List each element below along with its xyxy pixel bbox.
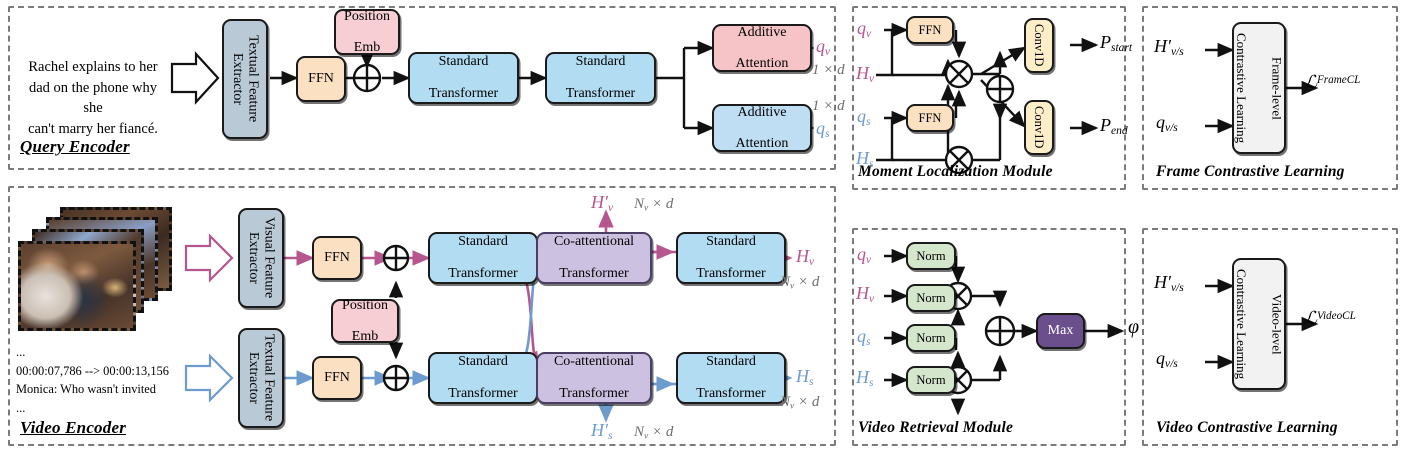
panel-title-moment-localization: Moment Localization Module xyxy=(858,163,1053,181)
label-dim-top: 1 × d xyxy=(812,62,845,79)
fcl-output: ℒFrameCL xyxy=(1304,72,1360,93)
video-ffn-subtitle[interactable]: FFN xyxy=(312,356,362,400)
ml-input-hs: Hs xyxy=(856,148,873,170)
ml-conv1d-end[interactable]: Conv1D xyxy=(1024,100,1054,155)
label-hv: Hv xyxy=(796,246,814,268)
subtitle-line4: ... xyxy=(16,399,169,418)
query-textual-feature-extractor[interactable]: Textual Feature Extractor xyxy=(222,19,268,139)
panel-title-video-retrieval: Video Retrieval Module xyxy=(858,419,1013,437)
vr-output-phi: φ xyxy=(1128,316,1139,339)
video-frame-1 xyxy=(18,241,136,331)
query-position-emb-label: Position Emb xyxy=(344,9,390,56)
video-frames-stack xyxy=(16,207,176,337)
query-additive-attention-subtitle[interactable]: Additive Attention xyxy=(712,104,812,152)
vcl-input-q: qv/s xyxy=(1156,348,1178,370)
vr-norm-qs[interactable]: Norm xyxy=(906,324,956,352)
panel-title-frame-cl: Frame Contrastive Learning xyxy=(1156,163,1345,181)
query-text-line2: dad on the phone why she xyxy=(18,78,168,119)
video-standard-transformer-visual-1[interactable]: Standard Transformer xyxy=(428,232,538,284)
ml-ffn-subtitle[interactable]: FFN xyxy=(906,104,954,132)
panel-title-video-encoder: Video Encoder xyxy=(20,418,126,438)
label-dim-bottom: 1 × d xyxy=(812,98,845,115)
ml-ffn-visual[interactable]: FFN xyxy=(906,16,954,44)
video-textual-feature-extractor[interactable]: Textual Feature Extractor xyxy=(238,328,284,428)
panel-title-query-encoder: Query Encoder xyxy=(20,137,130,157)
ml-conv1d-start[interactable]: Conv1D xyxy=(1024,18,1054,73)
ml-output-p-start: Pstart xyxy=(1100,32,1132,54)
panel-title-video-cl: Video Contrastive Learning xyxy=(1156,419,1338,437)
video-position-emb[interactable]: Position Emb xyxy=(331,299,399,343)
ml-input-qs: qs xyxy=(857,106,870,128)
vr-input-hv: Hv xyxy=(856,283,874,305)
label-dim-hs-prime: Nv × d xyxy=(634,424,673,441)
vr-max[interactable]: Max xyxy=(1036,313,1085,349)
subtitle-line2: 00:00:07,786 --> 00:00:13,156 xyxy=(16,362,169,381)
query-additive-attention-visual[interactable]: Additive Attention xyxy=(712,24,812,72)
query-ffn[interactable]: FFN xyxy=(296,56,346,102)
frame-level-contrastive-learning-block[interactable]: Frame-level Contrastive Learning xyxy=(1232,22,1286,154)
video-visual-feature-extractor[interactable]: Visual Feature Extractor xyxy=(238,208,284,308)
video-coattentional-transformer-subtitle[interactable]: Co-attentional Transformer xyxy=(536,352,652,404)
query-text: Rachel explains to her dad on the phone … xyxy=(18,57,168,139)
vr-input-hs: Hs xyxy=(856,367,873,389)
label-qs: qs xyxy=(816,118,829,140)
video-level-contrastive-learning-block[interactable]: Video-level Contrastive Learning xyxy=(1232,258,1286,390)
subtitle-line1: ... xyxy=(16,343,169,362)
vcl-output: ℒVideoCL xyxy=(1304,308,1356,329)
vr-norm-hv[interactable]: Norm xyxy=(906,284,956,312)
query-standard-transformer-1[interactable]: Standard Transformer xyxy=(408,52,519,104)
architecture-diagram: Query Encoder Rachel explains to her dad… xyxy=(0,0,1404,453)
video-standard-transformer-visual-2[interactable]: Standard Transformer xyxy=(676,232,786,284)
query-ffn-label: FFN xyxy=(308,71,334,87)
video-standard-transformer-subtitle-2[interactable]: Standard Transformer xyxy=(676,352,786,404)
vr-norm-hs[interactable]: Norm xyxy=(906,366,956,394)
ml-output-p-end: Pend xyxy=(1100,115,1128,137)
query-standard-transformer-2[interactable]: Standard Transformer xyxy=(545,52,656,104)
query-text-line1: Rachel explains to her xyxy=(18,57,168,78)
label-hs-prime: H′s xyxy=(591,420,612,442)
query-textual-feature-extractor-label: Textual Feature Extractor xyxy=(229,21,260,137)
video-standard-transformer-subtitle-1[interactable]: Standard Transformer xyxy=(428,352,538,404)
subtitle-text: ... 00:00:07,786 --> 00:00:13,156 Monica… xyxy=(16,343,169,417)
vr-norm-qv[interactable]: Norm xyxy=(906,242,956,270)
ml-input-hv: Hv xyxy=(856,63,874,85)
vcl-input-h-prime: H′v/s xyxy=(1154,272,1184,294)
fcl-input-h-prime: H′v/s xyxy=(1154,36,1184,58)
video-ffn-visual[interactable]: FFN xyxy=(312,236,362,280)
label-dim-hs: Nv × d xyxy=(780,394,819,411)
ml-input-qv: qv xyxy=(857,18,871,40)
query-position-emb[interactable]: Position Emb xyxy=(334,9,400,55)
label-dim-hv: Nv × d xyxy=(780,274,819,291)
label-hs: Hs xyxy=(796,366,813,388)
label-dim-hv-prime: Nv × d xyxy=(634,196,673,213)
vr-input-qv: qv xyxy=(857,244,871,266)
label-qv: qv xyxy=(816,36,830,58)
label-hv-prime: H′v xyxy=(591,192,613,214)
query-text-line3: can't marry her fiancé. xyxy=(18,119,168,140)
vr-input-qs: qs xyxy=(857,326,870,348)
fcl-input-q: qv/s xyxy=(1156,112,1178,134)
video-coattentional-transformer-visual[interactable]: Co-attentional Transformer xyxy=(536,232,652,284)
subtitle-line3: Monica: Who wasn't invited xyxy=(16,380,169,399)
